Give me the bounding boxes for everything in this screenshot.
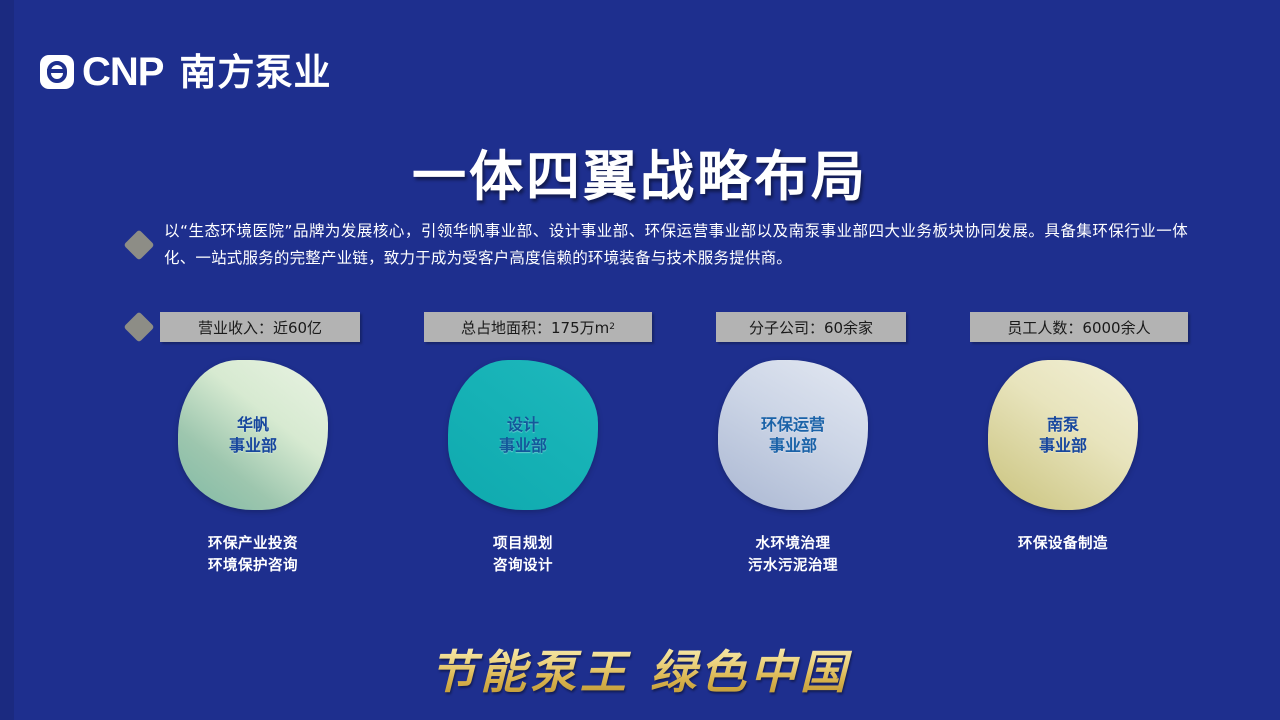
stats-list: 营业收入：近60亿 总占地面积：175万m2 分子公司：60余家 员工人数：60… bbox=[160, 312, 1188, 342]
stat-badge-subsidiaries: 分子公司：60余家 bbox=[716, 312, 906, 342]
brand-logo: CNP 南方泵业 bbox=[40, 52, 331, 92]
stat-badge-label: 营业收入：近60亿 bbox=[198, 317, 322, 338]
logo-chinese-text: 南方泵业 bbox=[179, 54, 331, 91]
pillar-shape-huanbaoyunying: 环保运营 事业部 bbox=[718, 360, 868, 510]
pillar-label-line2: 事业部 bbox=[499, 435, 547, 456]
pillar-label-line2: 事业部 bbox=[1039, 435, 1087, 456]
pillar-shape-sheji: 设计 事业部 bbox=[448, 360, 598, 510]
pillar-caption: 环保产业投资 环境保护咨询 bbox=[208, 533, 298, 578]
pillar-caption: 水环境治理 污水污泥治理 bbox=[748, 533, 838, 578]
diamond-marker-icon bbox=[123, 229, 154, 260]
pillar-caption: 项目规划 咨询设计 bbox=[493, 533, 553, 578]
pillar-huanbaoyunying: 环保运营 事业部 水环境治理 污水污泥治理 bbox=[668, 360, 918, 590]
stat-badge-employees: 员工人数：6000余人 bbox=[970, 312, 1188, 342]
pillar-shape-huafan: 华帆 事业部 bbox=[178, 360, 328, 510]
diamond-marker-icon bbox=[123, 311, 154, 342]
left-edge-strip bbox=[0, 0, 14, 720]
pillar-huafan: 华帆 事业部 环保产业投资 环境保护咨询 bbox=[128, 360, 378, 590]
stat-badge-area: 总占地面积：175万m2 bbox=[424, 312, 652, 342]
pillar-caption-line2: 环境保护咨询 bbox=[208, 555, 298, 577]
pillar-caption-line1: 环保产业投资 bbox=[208, 533, 298, 555]
pillar-nanbeng: 南泵 事业部 环保设备制造 bbox=[938, 360, 1188, 590]
pillar-label-line1: 设计 bbox=[499, 414, 547, 435]
logo-latin-text: CNP bbox=[82, 52, 163, 92]
pillar-sheji: 设计 事业部 项目规划 咨询设计 bbox=[398, 360, 648, 590]
pillars-section: 华帆 事业部 环保产业投资 环境保护咨询 设计 事业部 项目规划 咨询设计 环保… bbox=[128, 360, 1188, 590]
stat-badge-label: 总占地面积：175万m bbox=[461, 317, 609, 338]
intro-section: 以“生态环境医院”品牌为发展核心，引领华帆事业部、设计事业部、环保运营事业部以及… bbox=[128, 218, 1188, 271]
pillar-caption: 环保设备制造 bbox=[1018, 533, 1108, 555]
intro-paragraph: 以“生态环境医院”品牌为发展核心，引领华帆事业部、设计事业部、环保运营事业部以及… bbox=[164, 218, 1188, 271]
pillar-label-line2: 事业部 bbox=[761, 435, 825, 456]
pillar-caption-line1: 项目规划 bbox=[493, 533, 553, 555]
stat-badge-label: 员工人数：6000余人 bbox=[1007, 317, 1150, 338]
pillar-label-line1: 华帆 bbox=[229, 414, 277, 435]
pillar-caption-line2: 污水污泥治理 bbox=[748, 555, 838, 577]
pillar-label-line1: 环保运营 bbox=[761, 414, 825, 435]
pillar-shape-label: 设计 事业部 bbox=[499, 414, 547, 456]
pillar-caption-line1: 环保设备制造 bbox=[1018, 533, 1108, 555]
pillar-caption-line1: 水环境治理 bbox=[748, 533, 838, 555]
footer-slogan: 节能泵王 绿色中国 bbox=[0, 636, 1280, 702]
pillar-shape-label: 南泵 事业部 bbox=[1039, 414, 1087, 456]
pillar-shape-nanbeng: 南泵 事业部 bbox=[988, 360, 1138, 510]
pillar-shape-label: 环保运营 事业部 bbox=[761, 414, 825, 456]
pillar-label-line2: 事业部 bbox=[229, 435, 277, 456]
pillar-shape-label: 华帆 事业部 bbox=[229, 414, 277, 456]
stat-badge-revenue: 营业收入：近60亿 bbox=[160, 312, 360, 342]
pillar-label-line1: 南泵 bbox=[1039, 414, 1087, 435]
pillar-caption-line2: 咨询设计 bbox=[493, 555, 553, 577]
stat-badge-superscript: 2 bbox=[609, 322, 615, 332]
cnp-logo-mark-icon bbox=[40, 55, 74, 89]
page-title: 一体四翼战略布局 bbox=[0, 132, 1280, 211]
stat-badge-label: 分子公司：60余家 bbox=[749, 317, 873, 338]
stats-section: 营业收入：近60亿 总占地面积：175万m2 分子公司：60余家 员工人数：60… bbox=[128, 312, 1188, 342]
